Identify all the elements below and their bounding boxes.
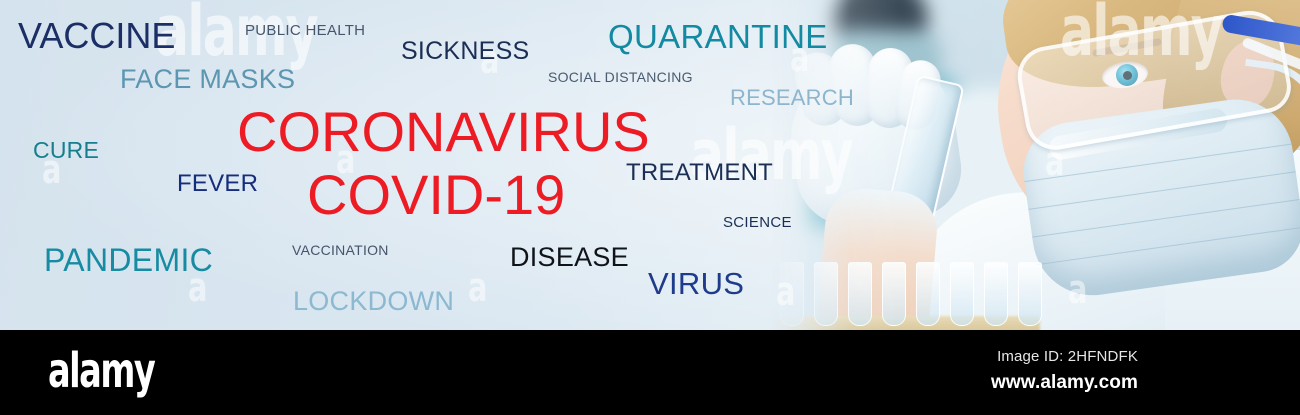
word-cloud-term: FEVER: [177, 172, 258, 196]
word-cloud-term: FACE MASKS: [120, 66, 295, 93]
word-cloud-term: VACCINATION: [292, 243, 389, 257]
screenshot-root: alamyalamyalamyaaaaaaaaa VACCINEPUBLIC H…: [0, 0, 1300, 415]
word-cloud-term: DISEASE: [510, 244, 629, 271]
covid-word-cloud-banner: alamyalamyalamyaaaaaaaaa VACCINEPUBLIC H…: [0, 0, 1300, 330]
alamy-logo: alamy: [48, 347, 154, 395]
word-cloud-term: CORONAVIRUS: [237, 104, 650, 160]
word-cloud-term: TREATMENT: [626, 161, 773, 185]
word-cloud-term: CURE: [33, 139, 99, 162]
word-cloud-term: SICKNESS: [401, 39, 529, 64]
word-cloud-term: SOCIAL DISTANCING: [548, 70, 693, 84]
word-cloud-term: QUARANTINE: [608, 20, 828, 53]
word-cloud-term: PANDEMIC: [44, 244, 213, 276]
word-cloud-term: VIRUS: [648, 268, 744, 299]
image-id-label: Image ID: 2HFNDFK: [997, 348, 1138, 365]
word-cloud-term: VACCINE: [18, 18, 175, 54]
word-cloud-term: SCIENCE: [723, 215, 792, 230]
test-tube-rack: [770, 262, 1070, 330]
alamy-url-label: www.alamy.com: [991, 372, 1138, 394]
alamy-footer-bar: alamy Image ID: 2HFNDFK www.alamy.com: [0, 330, 1300, 415]
foreground-scientist: [770, 0, 1300, 330]
word-cloud-term: COVID-19: [307, 167, 565, 223]
laboratory-photo: [770, 0, 1300, 330]
word-cloud-term: RESEARCH: [730, 87, 854, 109]
word-cloud-term: LOCKDOWN: [293, 288, 454, 315]
word-cloud-term: PUBLIC HEALTH: [245, 23, 365, 38]
